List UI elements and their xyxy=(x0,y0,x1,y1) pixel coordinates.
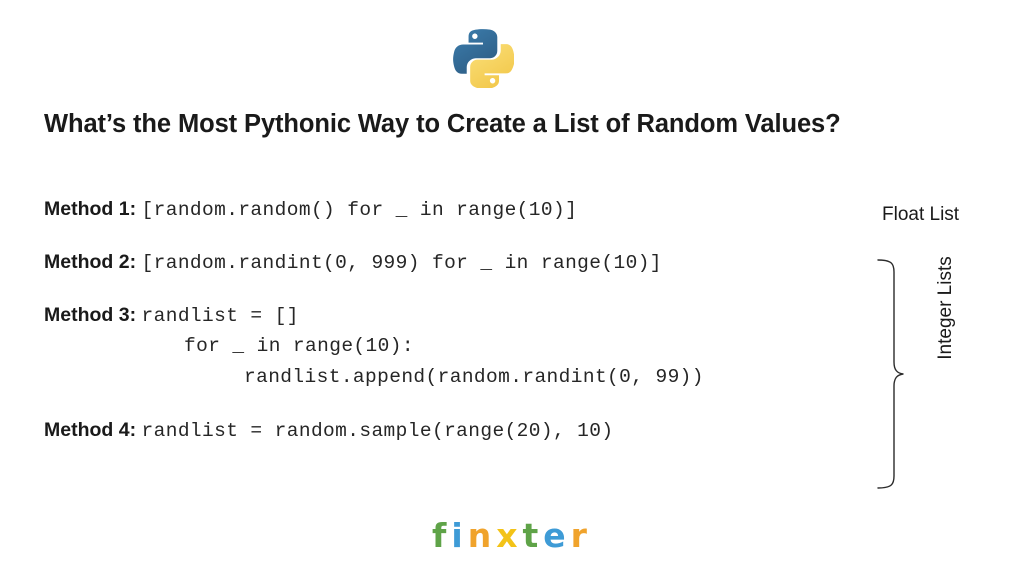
method-block-4: Method 4: randlist = random.sample(range… xyxy=(44,417,854,448)
brand-letter-i: i xyxy=(451,516,467,555)
method-code: for _ in range(10): xyxy=(184,335,414,357)
finxter-logo: finxter xyxy=(0,516,1024,555)
method-code: randlist = random.sample(range(20), 10) xyxy=(142,420,614,442)
method-block-3: Method 3: randlist = [] for _ in range(1… xyxy=(44,302,854,395)
brand-letter-e: e xyxy=(543,516,570,555)
python-logo-icon xyxy=(452,26,514,88)
brand-letter-x: x xyxy=(496,516,522,555)
method-code: randlist = [] xyxy=(142,305,299,327)
curly-brace-icon xyxy=(872,258,906,490)
method-line: randlist.append(random.randint(0, 99)) xyxy=(44,364,854,395)
page-title: What’s the Most Pythonic Way to Create a… xyxy=(44,110,984,139)
brand-letter-t: t xyxy=(523,516,544,555)
brand-letter-n: n xyxy=(468,516,497,555)
method-separator: : xyxy=(130,419,142,441)
method-line: Method 1: [random.random() for _ in rang… xyxy=(44,196,854,227)
method-separator: : xyxy=(130,251,142,273)
method-separator: : xyxy=(130,198,142,220)
method-label: Method 4 xyxy=(44,419,130,441)
method-label: Method 1 xyxy=(44,198,130,220)
methods-list: Method 1: [random.random() for _ in rang… xyxy=(44,196,854,448)
method-line: Method 4: randlist = random.sample(range… xyxy=(44,417,854,448)
method-code: [random.random() for _ in range(10)] xyxy=(142,199,578,221)
brand-letter-f: f xyxy=(432,516,451,555)
integer-lists-label: Integer Lists xyxy=(935,228,957,388)
method-block-2: Method 2: [random.randint(0, 999) for _ … xyxy=(44,249,854,280)
method-block-1: Method 1: [random.random() for _ in rang… xyxy=(44,196,854,227)
method-code: [random.randint(0, 999) for _ in range(1… xyxy=(142,252,662,274)
method-code: randlist.append(random.randint(0, 99)) xyxy=(244,366,704,388)
method-line: Method 2: [random.randint(0, 999) for _ … xyxy=(44,249,854,280)
brand-letter-r: r xyxy=(571,516,592,555)
method-line: Method 3: randlist = [] xyxy=(44,302,854,333)
method-separator: : xyxy=(130,304,142,326)
method-label: Method 2 xyxy=(44,251,130,273)
method-label: Method 3 xyxy=(44,304,130,326)
float-list-label: Float List xyxy=(882,204,959,226)
method-line: for _ in range(10): xyxy=(44,333,854,364)
